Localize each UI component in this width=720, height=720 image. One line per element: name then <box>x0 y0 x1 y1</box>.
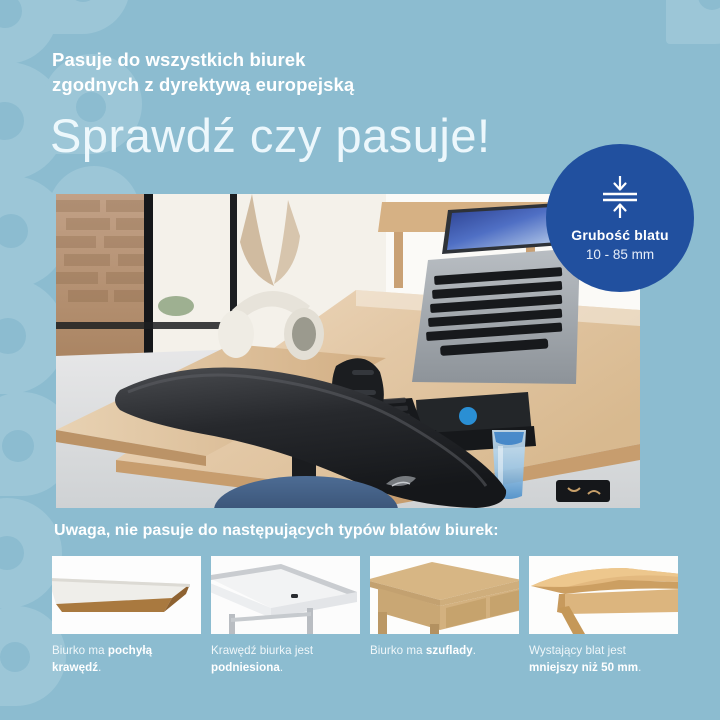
caption-prefix: Biurko ma <box>52 644 108 657</box>
badge-title: Grubość blatu <box>571 228 669 243</box>
page-title: Sprawdź czy pasuje! <box>50 110 491 162</box>
desk-short-overhang-photo <box>529 556 678 634</box>
caption-prefix: Wystający blat jest <box>529 644 626 657</box>
desk-raised-edge-illustration <box>211 556 360 634</box>
list-item-caption: Krawędź biurka jest podniesiona. <box>211 643 360 677</box>
list-item-caption: Biurko ma pochyłą krawędź. <box>52 643 201 677</box>
list-item: Wystający blat jest mniejszy niż 50 mm. <box>529 556 678 677</box>
desk-raised-edge-photo <box>211 556 360 634</box>
caption-suffix: . <box>280 661 283 674</box>
warning-heading: Uwaga, nie pasuje do następujących typów… <box>54 522 499 540</box>
warning-thumbnail-list: Biurko ma pochyłą krawędź. Krawędź b <box>52 556 672 677</box>
kicker-line-2: zgodnych z dyrektywą europejską <box>52 72 492 97</box>
caption-suffix: . <box>473 644 476 657</box>
desk-short-overhang-illustration <box>529 556 678 634</box>
list-item-caption: Wystający blat jest mniejszy niż 50 mm. <box>529 643 678 677</box>
desk-sloped-edge-illustration <box>52 556 201 634</box>
badge-value: 10 - 85 mm <box>586 247 654 262</box>
list-item-caption: Biurko ma szuflady. <box>370 643 519 660</box>
list-item: Krawędź biurka jest podniesiona. <box>211 556 360 677</box>
desk-with-drawers-illustration <box>370 556 519 634</box>
caption-bold: mniejszy niż 50 mm <box>529 661 638 674</box>
list-item: Biurko ma pochyłą krawędź. <box>52 556 201 677</box>
kicker-text: Pasuje do wszystkich biurek zgodnych z d… <box>52 47 492 97</box>
desk-with-drawers-photo <box>370 556 519 634</box>
promo-poster: Pasuje do wszystkich biurek zgodnych z d… <box>0 0 720 720</box>
kicker-line-1: Pasuje do wszystkich biurek <box>52 47 492 72</box>
caption-bold: podniesiona <box>211 661 280 674</box>
caption-prefix: Krawędź biurka jest <box>211 644 313 657</box>
caption-suffix: . <box>98 661 101 674</box>
caption-prefix: Biurko ma <box>370 644 426 657</box>
thickness-arrows-icon <box>597 174 643 220</box>
thickness-badge: Grubość blatu 10 - 85 mm <box>546 144 694 292</box>
list-item: Biurko ma szuflady. <box>370 556 519 677</box>
desk-sloped-edge-photo <box>52 556 201 634</box>
caption-bold: szuflady <box>426 644 473 657</box>
caption-suffix: . <box>638 661 641 674</box>
